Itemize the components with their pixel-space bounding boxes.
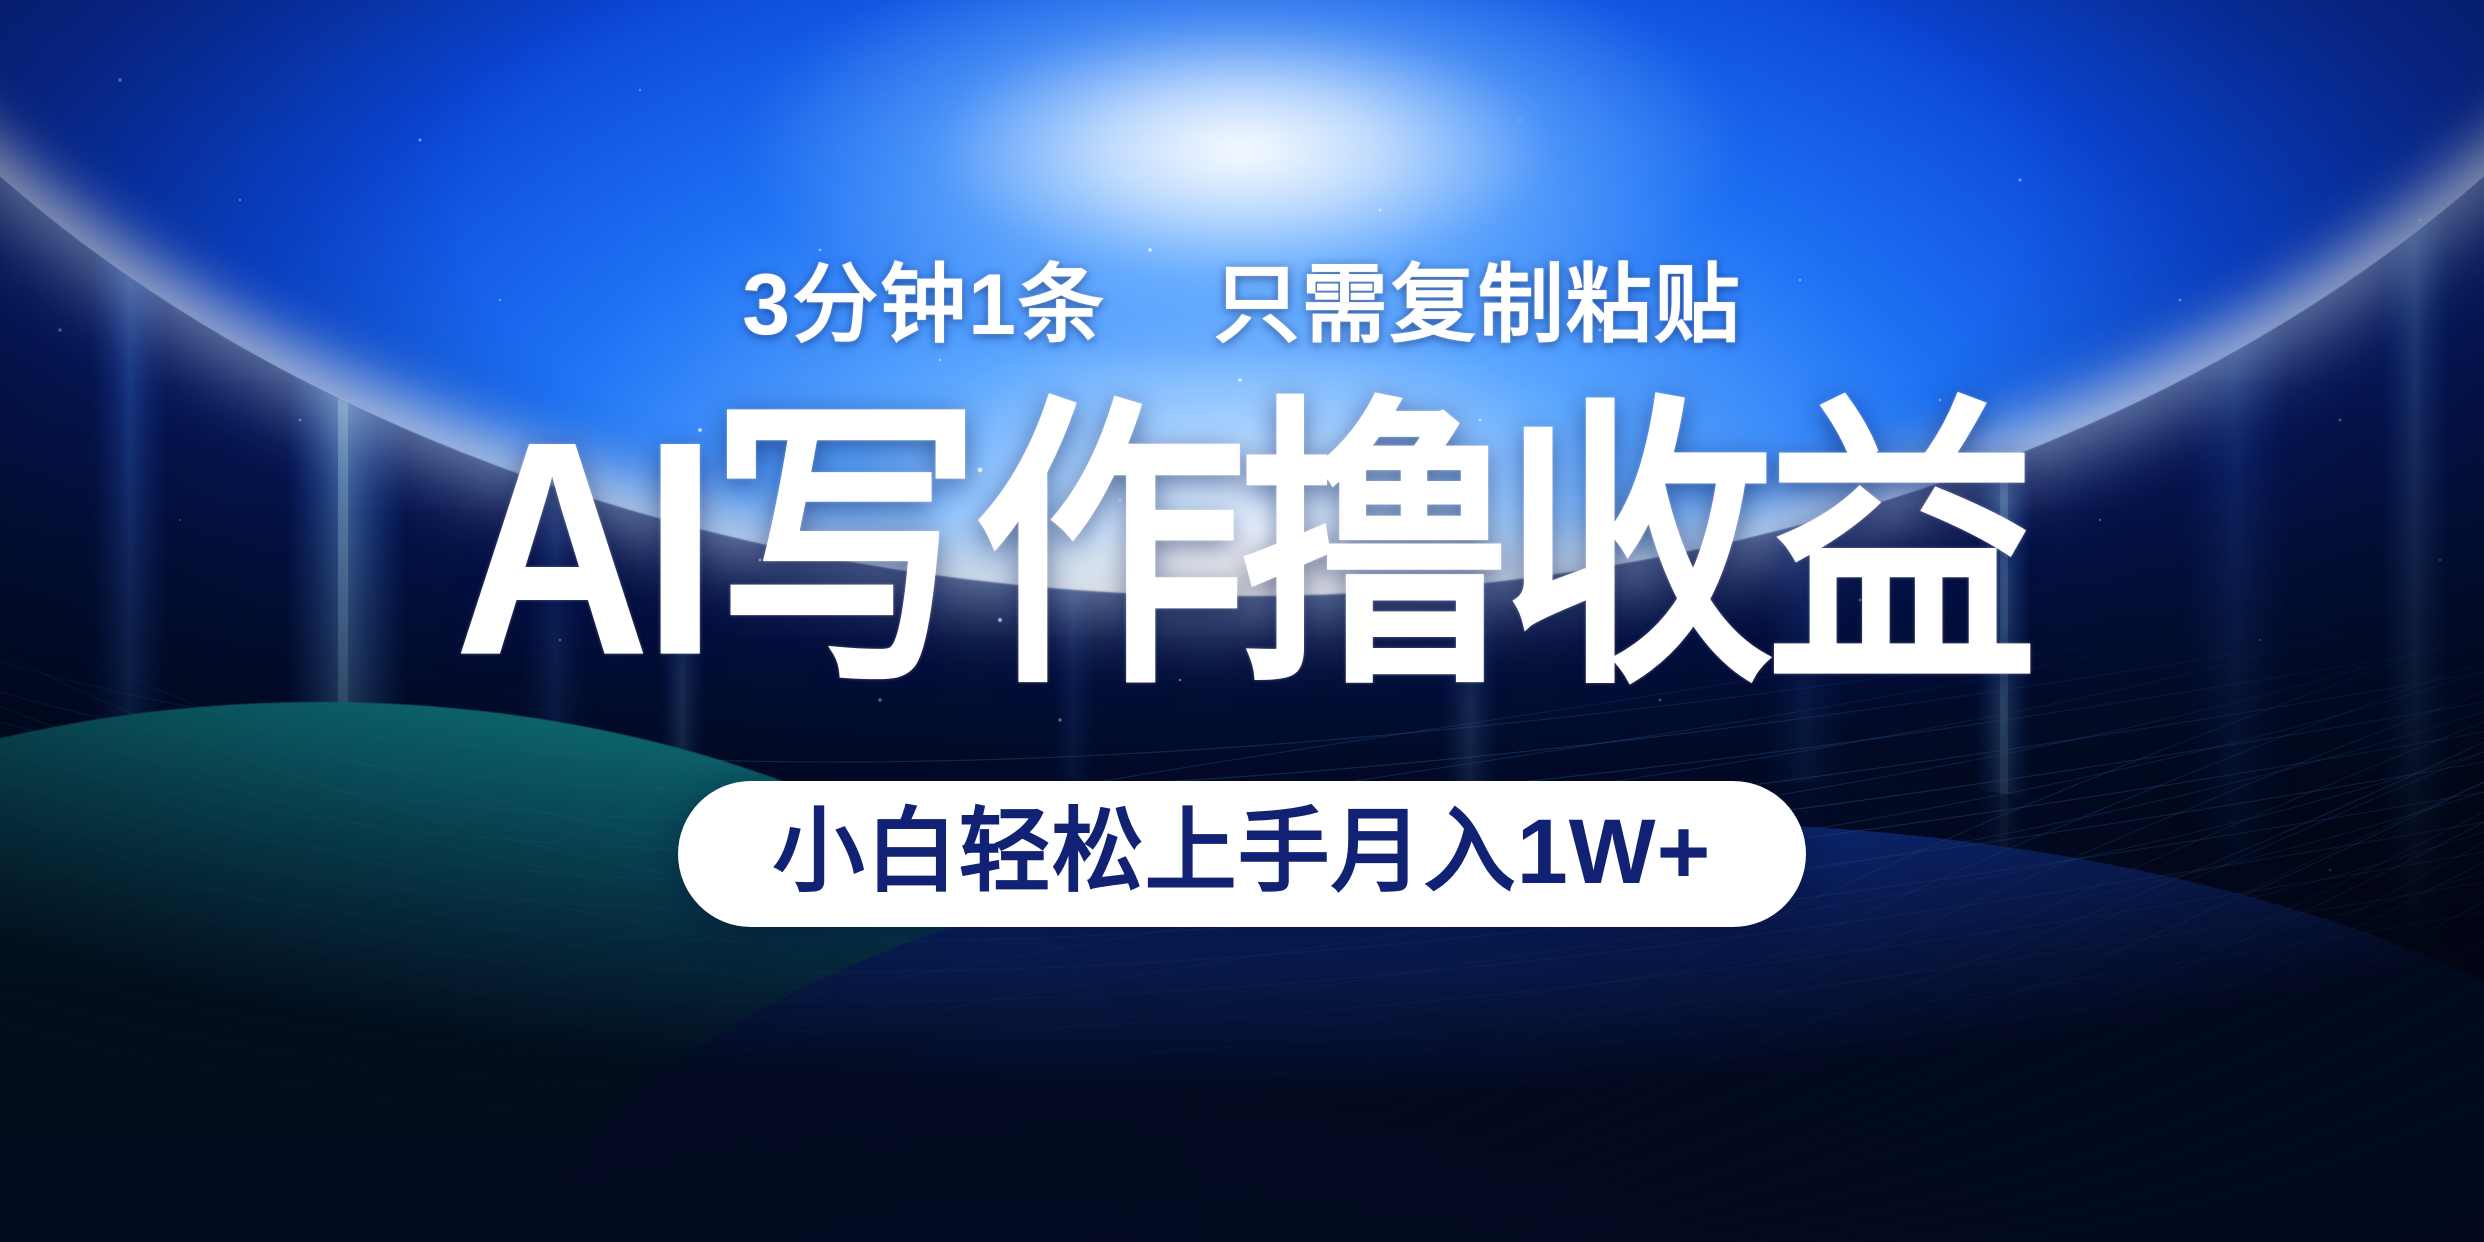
- subtitle-right: 只需复制粘贴: [1214, 257, 1742, 353]
- badge-pill: 小白轻松上手月入1W+: [678, 781, 1806, 927]
- badge-text: 小白轻松上手月入1W+: [773, 806, 1712, 898]
- promo-poster: 3分钟1条 只需复制粘贴 AI写作撸收益 小白轻松上手月入1W+: [0, 0, 2484, 1242]
- headline: AI写作撸收益: [0, 396, 2484, 701]
- subtitle-left: 3分钟1条: [742, 257, 1106, 353]
- subtitle-line: 3分钟1条 只需复制粘贴: [0, 262, 2484, 348]
- poster-text-group: 3分钟1条 只需复制粘贴 AI写作撸收益 小白轻松上手月入1W+: [0, 0, 2484, 1242]
